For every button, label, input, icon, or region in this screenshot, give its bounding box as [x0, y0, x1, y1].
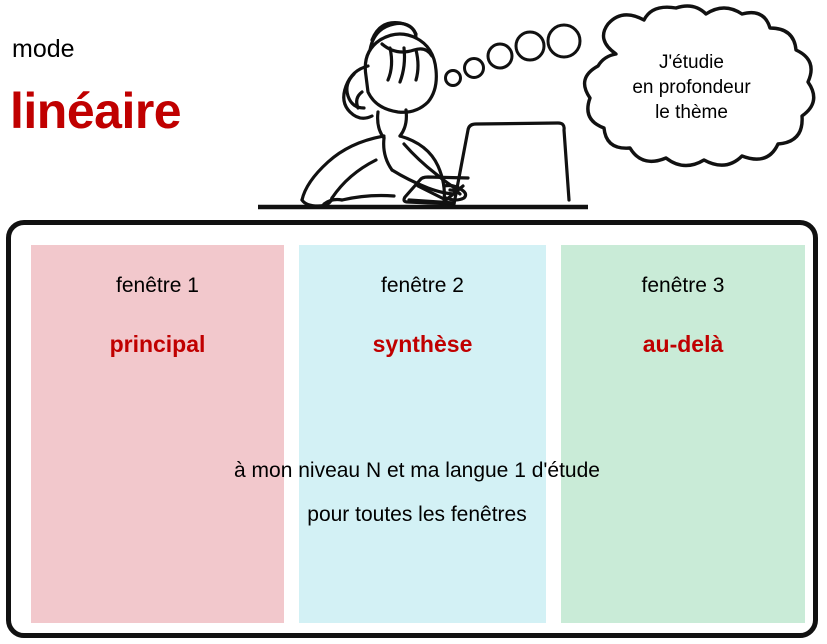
panel-3-label: fenêtre 3 — [561, 273, 805, 299]
panel-fenetre-3[interactable]: fenêtre 3 au-delà — [561, 245, 805, 623]
panel-2-label: fenêtre 2 — [299, 273, 546, 299]
mode-title: linéaire — [10, 82, 181, 140]
panel-2-name: synthèse — [299, 330, 546, 358]
panel-1-label: fenêtre 1 — [31, 273, 284, 299]
thought-bubble: J'étudie en profondeur le thème — [556, 2, 827, 172]
mode-label: mode — [12, 34, 75, 64]
panel-fenetre-1[interactable]: fenêtre 1 principal — [31, 245, 284, 623]
header-area: mode linéaire — [0, 0, 827, 220]
panel-3-name: au-delà — [561, 330, 805, 358]
panel-fenetre-2[interactable]: fenêtre 2 synthèse — [299, 245, 546, 623]
panel-1-name: principal — [31, 330, 284, 358]
windows-board-frame: fenêtre 1 principal fenêtre 2 synthèse f… — [6, 220, 818, 638]
panels-container: fenêtre 1 principal fenêtre 2 synthèse f… — [11, 225, 823, 643]
